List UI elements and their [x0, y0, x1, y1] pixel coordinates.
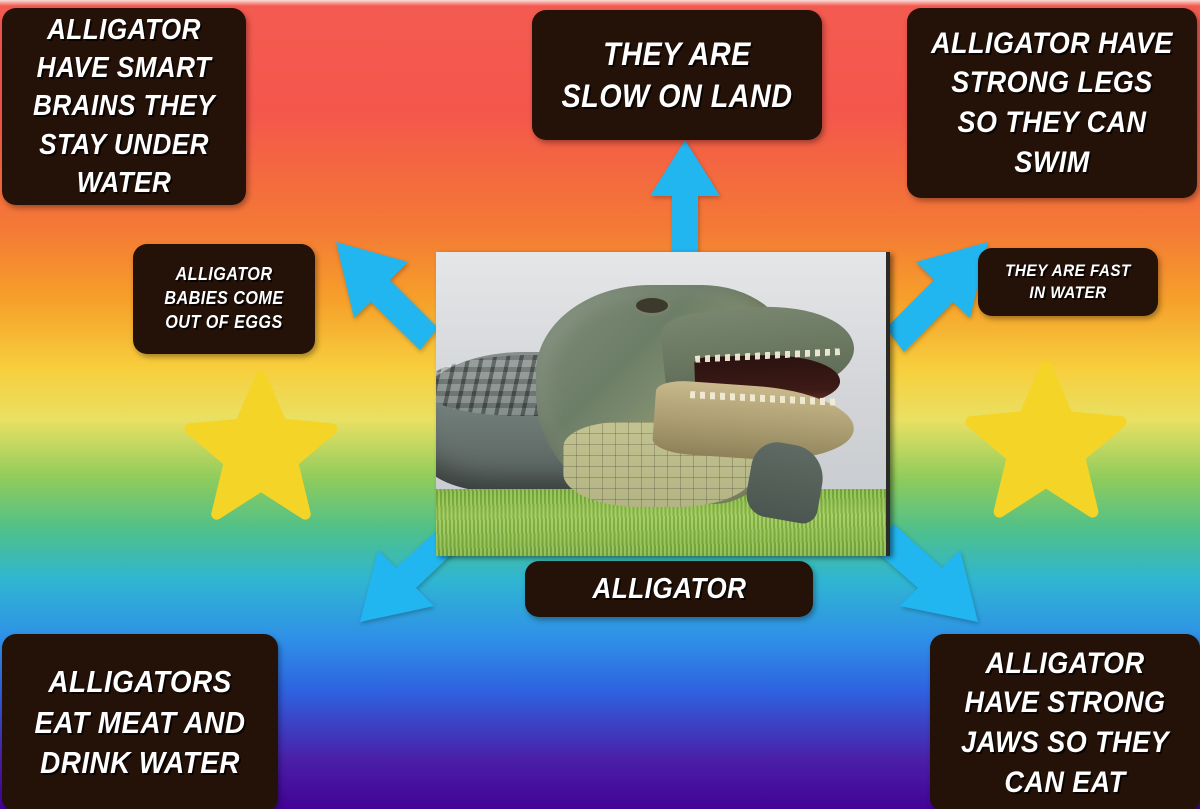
arrow-up-right-icon — [884, 240, 990, 352]
center-caption-label: ALLIGATOR — [525, 561, 813, 617]
alligator-photo — [436, 252, 890, 556]
fact-text: ALLIGATOR BABIES COME OUT OF EGGS — [151, 263, 297, 334]
fact-box-top-left: ALLIGATOR HAVE SMART BRAINS THEY STAY UN… — [2, 8, 246, 205]
fact-text: ALLIGATOR HAVE SMART BRAINS THEY STAY UN… — [23, 11, 225, 202]
fact-box-top-right: ALLIGATOR HAVE STRONG LEGS SO THEY CAN S… — [907, 8, 1197, 198]
alligator-eye — [636, 298, 668, 313]
fact-box-middle-right: THEY ARE FAST IN WATER — [978, 248, 1158, 316]
fact-text: ALLIGATORS EAT MEAT AND DRINK WATER — [25, 662, 255, 785]
arrow-up-left-icon — [334, 240, 438, 350]
photo-right-edge — [886, 252, 890, 556]
arrow-up-icon — [650, 140, 720, 260]
fact-box-bottom-left: ALLIGATORS EAT MEAT AND DRINK WATER — [2, 634, 278, 809]
fact-text: THEY ARE SLOW ON LAND — [556, 33, 799, 117]
caption-text: ALLIGATOR — [592, 570, 746, 608]
fact-box-top-center: THEY ARE SLOW ON LAND — [532, 10, 822, 140]
fact-text: ALLIGATOR HAVE STRONG LEGS SO THEY CAN S… — [931, 24, 1174, 182]
fact-box-bottom-right: ALLIGATOR HAVE STRONG JAWS SO THEY CAN E… — [930, 634, 1200, 809]
star-icon — [962, 362, 1130, 525]
alligator-fact-poster: ALLIGATOR HAVE SMART BRAINS THEY STAY UN… — [0, 0, 1200, 809]
fact-text: ALLIGATOR HAVE STRONG JAWS SO THEY CAN E… — [953, 644, 1178, 802]
fact-box-middle-left: ALLIGATOR BABIES COME OUT OF EGGS — [133, 244, 315, 354]
star-icon — [182, 372, 340, 527]
fact-text: THEY ARE FAST IN WATER — [996, 260, 1140, 305]
